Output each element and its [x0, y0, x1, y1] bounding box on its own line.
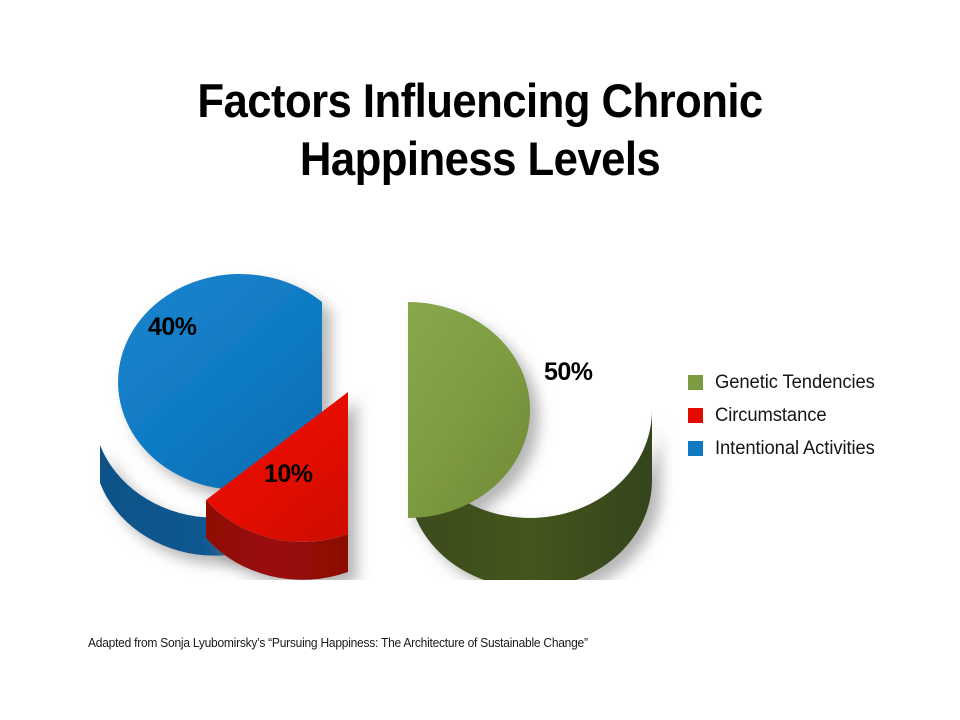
legend-item-label: Intentional Activities: [715, 438, 875, 460]
legend-item-circumstance[interactable]: Circumstance: [688, 399, 950, 432]
pie-chart-svg: [60, 250, 680, 580]
slide-canvas: Factors Influencing Chronic Happiness Le…: [0, 0, 960, 720]
data-label-circumstance: 10%: [264, 460, 313, 489]
pie-slice-genetic-tendencies[interactable]: [408, 302, 652, 580]
pie-chart-plot: [60, 250, 680, 580]
chart-legend: Genetic Tendencies Circumstance Intentio…: [688, 366, 950, 465]
legend-item-label: Genetic Tendencies: [715, 372, 875, 394]
data-label-genetic-tendencies: 50%: [544, 358, 593, 387]
legend-item-label: Circumstance: [715, 405, 827, 427]
legend-swatch-icon: [688, 408, 703, 423]
legend-item-intentional-activities[interactable]: Intentional Activities: [688, 432, 950, 465]
legend-swatch-icon: [688, 375, 703, 390]
legend-item-genetic-tendencies[interactable]: Genetic Tendencies: [688, 366, 950, 399]
legend-swatch-icon: [688, 441, 703, 456]
page-title: Factors Influencing Chronic Happiness Le…: [34, 72, 927, 188]
source-footnote: Adapted from Sonja Lyubomirsky’s “Pursui…: [88, 636, 588, 650]
data-label-intentional-activities: 40%: [148, 313, 197, 342]
